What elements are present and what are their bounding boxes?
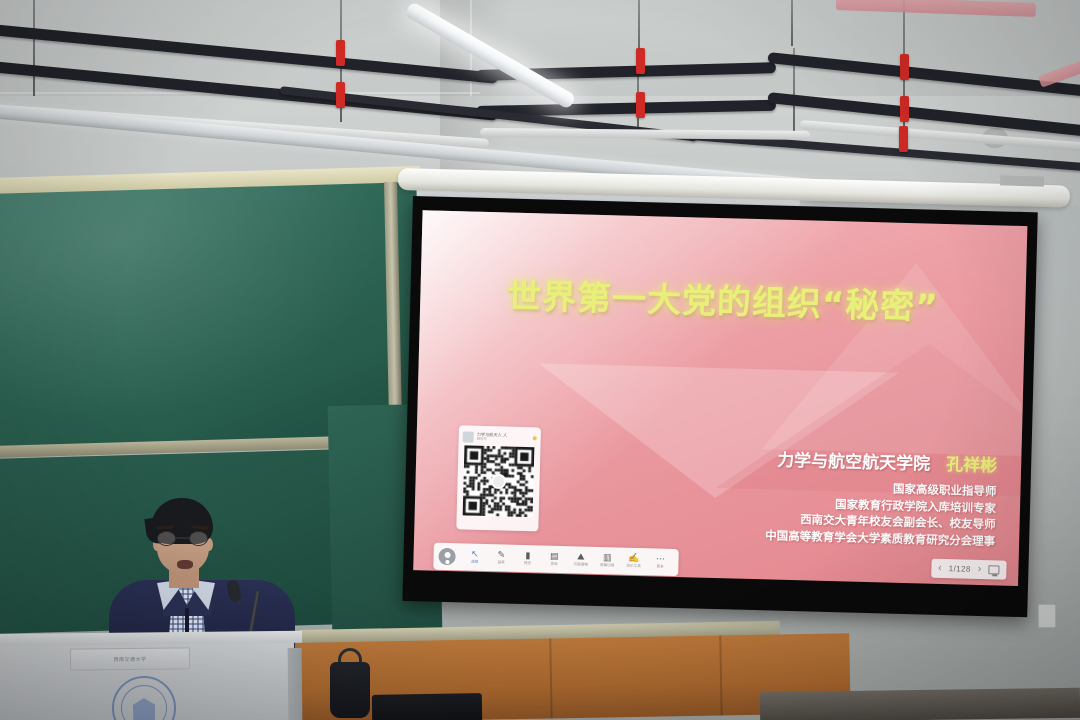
wall-socket-icon (1038, 604, 1056, 628)
thumbnails-icon: ⛰ (577, 552, 585, 561)
toolbar-item-present-tools[interactable]: ✍ 演示工具 (620, 554, 647, 570)
conduit-marker (636, 92, 645, 118)
monitor-icon[interactable] (988, 565, 999, 574)
user-avatar-icon[interactable] (438, 548, 455, 565)
conduit-marker (336, 40, 345, 66)
roller-bracket (1000, 175, 1044, 186)
presenter-credentials: 国家高级职业指导师 国家教育行政学院入库培训专家 西南交大青年校友会副会长、校友… (765, 477, 997, 550)
podium-nameplate-text: 西南交通大学 (113, 655, 146, 662)
laptop (372, 693, 482, 720)
wood-seam (549, 638, 552, 718)
toolbar-item-select[interactable]: ↖ 选择 (461, 549, 488, 565)
speaker-mouth (177, 560, 193, 569)
toolbar-label: 橡皮 (524, 561, 531, 566)
toolbar-item-pen[interactable]: ✎ 画笔 (488, 550, 515, 566)
desk (760, 688, 1080, 720)
toolbar-item-thumbnails[interactable]: ⛰ 页面缩略 (567, 552, 594, 568)
conduit-marker (900, 54, 909, 80)
annotation-toolbar[interactable]: ↖ 选择 ✎ 画笔 ▮ 橡皮 ▤ 黑板 ⛰ 页面缩略 (433, 543, 679, 576)
lecture-hall-photo: 世界第一大党的组织“秘密” 力学与航天人 人 微信号 (0, 0, 1080, 720)
contact-avatar-icon (463, 431, 474, 442)
toolbar-label: 屏幕切换 (600, 563, 615, 568)
toolbar-label: 演示工具 (626, 564, 641, 569)
conduit-marker (336, 82, 345, 108)
conduit-marker (636, 48, 645, 74)
toolbar-item-board[interactable]: ▤ 黑板 (541, 551, 568, 567)
next-slide-icon[interactable]: › (978, 564, 982, 575)
podium-nameplate: 西南交通大学 (70, 647, 190, 670)
podium-side (288, 648, 303, 720)
prev-slide-icon[interactable]: ‹ (938, 563, 942, 574)
glasses-lens-left (157, 531, 176, 546)
glasses-lens-right (189, 531, 208, 546)
contact-subtitle: 微信号 (477, 437, 530, 442)
badge-dot-icon (533, 436, 537, 440)
qr-code-image[interactable] (463, 445, 535, 517)
wood-seam (719, 635, 722, 715)
glasses-bridge (176, 537, 189, 539)
presenter-name: 孔祥彬 (946, 455, 998, 476)
blackboard-icon: ▤ (550, 552, 559, 561)
conduit-marker (899, 126, 908, 152)
toolbar-item-more[interactable]: ⋯ 更多 (647, 554, 674, 570)
toolbar-label: 黑板 (550, 562, 557, 567)
cursor-icon: ↖ (471, 550, 479, 559)
conduit-marker (900, 96, 909, 122)
hanging-rod (791, 0, 793, 46)
qr-card-header: 力学与航天人 人 微信号 (463, 429, 537, 445)
toolbar-label: 页面缩略 (573, 562, 588, 567)
speaker-glasses (155, 531, 212, 546)
eraser-icon: ▮ (525, 551, 530, 560)
presentation-slide: 世界第一大党的组织“秘密” 力学与航天人 人 微信号 (413, 210, 1027, 586)
wechat-qr-card[interactable]: 力学与航天人 人 微信号 (456, 425, 541, 531)
hanging-rod (33, 0, 35, 96)
toolbar-label: 选择 (471, 560, 478, 565)
screen-switch-icon: ▥ (603, 553, 612, 562)
pen-icon: ✎ (497, 550, 505, 559)
qr-card-meta: 力学与航天人 人 微信号 (477, 432, 530, 442)
toolbar-label: 画笔 (498, 560, 505, 565)
slide-page-nav[interactable]: ‹ 1/128 › (931, 559, 1007, 580)
present-tools-icon: ✍ (628, 554, 639, 563)
page-indicator: 1/128 (949, 564, 971, 574)
projector-screen: 世界第一大党的组织“秘密” 力学与航天人 人 微信号 (402, 196, 1037, 617)
more-icon: ⋯ (656, 554, 665, 563)
presenter-affiliation: 力学与航空航天学院 (777, 451, 930, 475)
toolbar-item-eraser[interactable]: ▮ 橡皮 (514, 551, 541, 567)
toolbar-label: 更多 (656, 565, 663, 570)
toolbar-item-screen-switch[interactable]: ▥ 屏幕切换 (594, 553, 621, 569)
bag (330, 662, 370, 718)
